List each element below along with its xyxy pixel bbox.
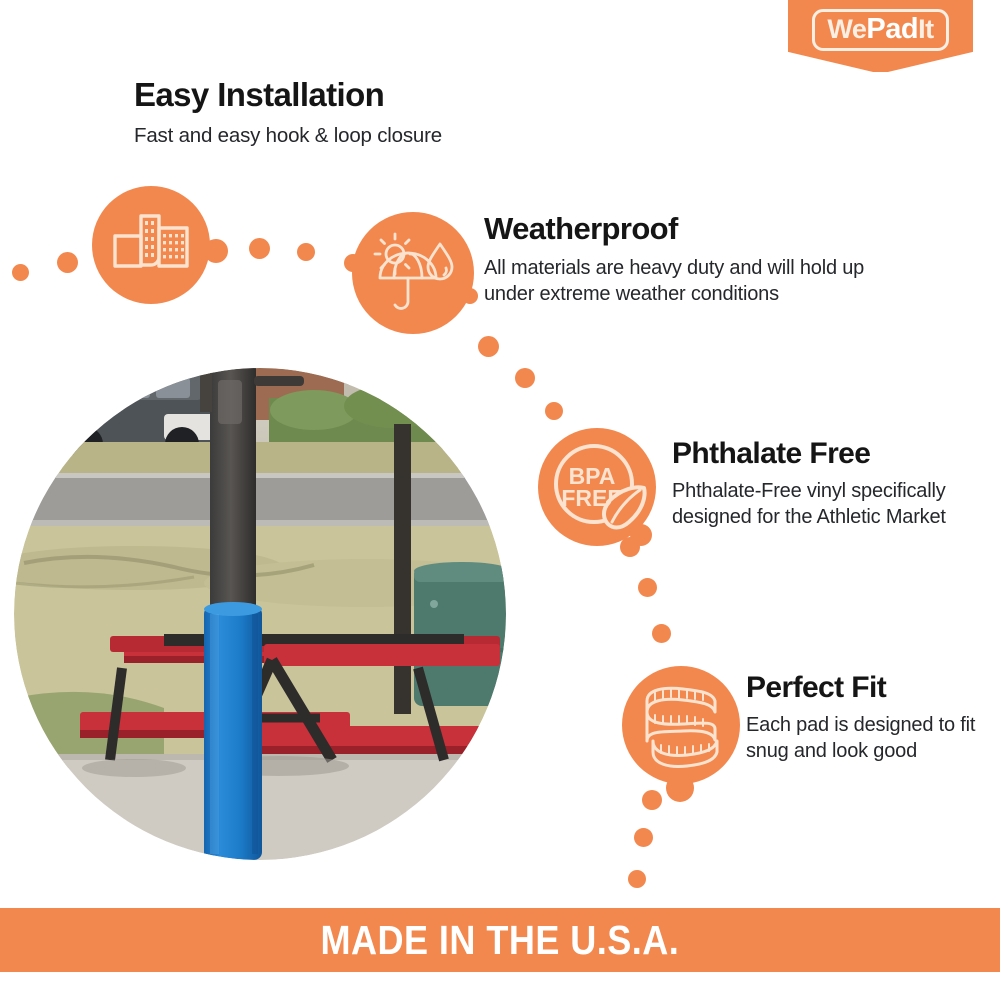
measuring-tape-icon [622,666,740,784]
path-dot [638,578,657,597]
infographic-canvas: We Pad It Easy Installation Fast and eas… [0,0,1000,987]
path-dot [478,336,499,357]
brand-logo-we: We [827,16,866,43]
feature-description: Each pad is designed to fit snug and loo… [746,712,986,765]
path-dot [249,238,270,259]
feature-title: Phthalate Free [672,438,992,470]
path-dot [652,624,671,643]
brand-logo-frame: We Pad It [812,9,948,51]
icon-nub [204,240,221,257]
path-dot [642,790,662,810]
velcro-strip-icon [92,186,210,304]
brand-logo-badge: We Pad It [788,0,973,72]
made-in-usa-banner: MADE IN THE U.S.A. [0,908,1000,972]
feature-title: Easy Installation [134,78,604,113]
feature-description: Phthalate-Free vinyl specifically design… [672,478,992,531]
feature-title: Weatherproof [484,213,914,246]
icon-nub [462,288,478,304]
sun-umbrella-rain-icon [352,212,474,334]
feature-title: Perfect Fit [746,672,986,704]
path-dot [297,243,315,261]
path-dot [545,402,563,420]
path-dot [12,264,29,281]
made-in-usa-text: MADE IN THE U.S.A. [321,917,680,964]
path-dot [628,870,646,888]
path-dot [57,252,78,273]
brand-logo-it: It [918,16,934,43]
path-dot [515,368,535,388]
feature-block-weatherproof: Weatherproof All materials are heavy dut… [484,213,914,308]
feature-block-easy-installation: Easy Installation Fast and easy hook & l… [134,78,604,149]
feature-description: Fast and easy hook & loop closure [134,122,604,149]
icon-nub [630,524,652,546]
bpa-free-leaf-icon: BPA FREE [538,428,656,546]
path-dot [634,828,653,847]
feature-block-perfect-fit: Perfect Fit Each pad is designed to fit … [746,672,986,765]
feature-block-phthalate-free: Phthalate Free Phthalate-Free vinyl spec… [672,438,992,531]
brand-logo-pad: Pad [866,15,918,44]
product-photo [14,368,506,860]
icon-nub [666,774,694,802]
icon-nub [344,254,362,272]
feature-description: All materials are heavy duty and will ho… [484,255,914,308]
